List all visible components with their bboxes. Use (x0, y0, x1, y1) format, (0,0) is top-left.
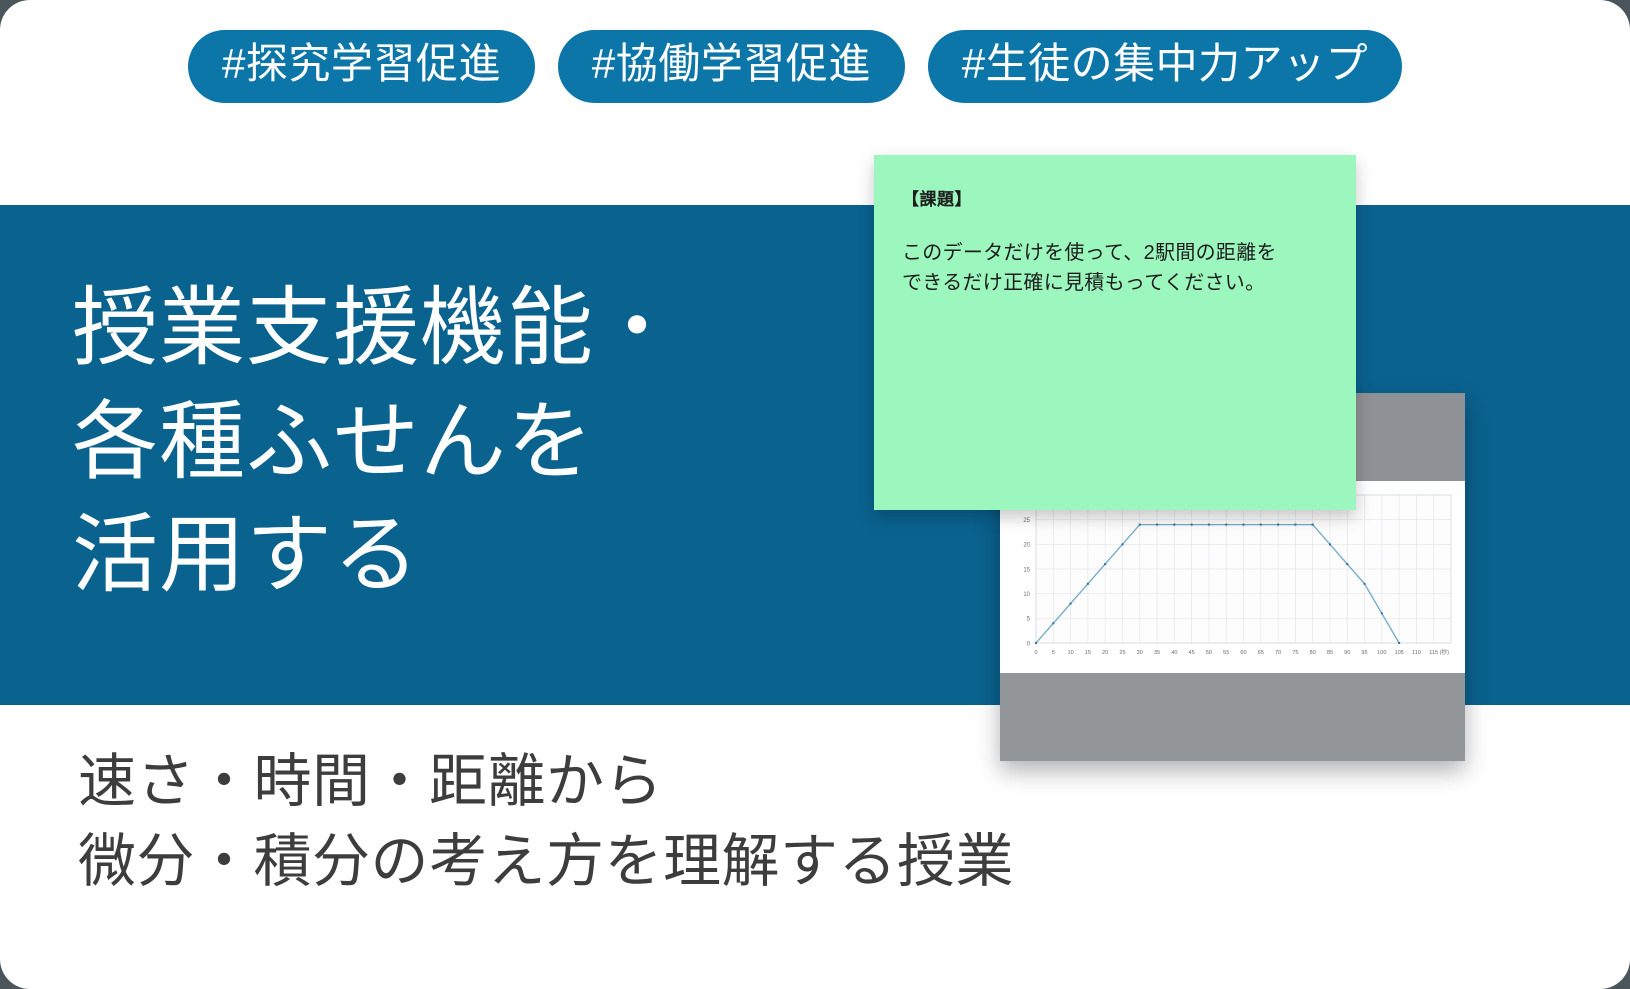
svg-text:25: 25 (1119, 650, 1125, 656)
svg-text:10: 10 (1067, 650, 1073, 656)
svg-text:5: 5 (1027, 617, 1031, 623)
svg-text:60: 60 (1240, 650, 1246, 656)
svg-text:40: 40 (1171, 650, 1177, 656)
svg-text:(秒): (秒) (1440, 648, 1449, 656)
sticky-note-title: 【課題】 (902, 185, 1328, 210)
sticky-note-body: このデータだけを使って、2駅間の距離を できるだけ正確に見積もってください。 (902, 238, 1328, 298)
window-bottom-bar (1000, 673, 1465, 761)
svg-text:10: 10 (1023, 592, 1030, 598)
svg-text:100: 100 (1377, 650, 1386, 656)
page-title: 授業支援機能・ 各種ふせんを 活用する (72, 272, 681, 613)
svg-text:50: 50 (1206, 650, 1212, 656)
svg-text:55: 55 (1223, 650, 1229, 656)
hashtag-pill-2[interactable]: #協働学習促進 (558, 30, 905, 103)
svg-text:95: 95 (1361, 650, 1367, 656)
svg-text:20: 20 (1102, 650, 1108, 656)
svg-text:30: 30 (1137, 650, 1143, 656)
svg-text:15: 15 (1023, 567, 1030, 573)
svg-text:0: 0 (1034, 650, 1037, 656)
svg-text:70: 70 (1275, 650, 1281, 656)
promo-card: #探究学習促進 #協働学習促進 #生徒の集中力アップ 授業支援機能・ 各種ふせん… (0, 0, 1630, 989)
svg-text:115: 115 (1429, 650, 1438, 656)
svg-text:25: 25 (1023, 518, 1030, 524)
svg-text:15: 15 (1085, 650, 1091, 656)
svg-text:5: 5 (1052, 650, 1055, 656)
svg-text:65: 65 (1258, 650, 1264, 656)
svg-text:0: 0 (1027, 641, 1031, 647)
hashtag-pill-1[interactable]: #探究学習促進 (188, 30, 535, 103)
svg-text:85: 85 (1327, 650, 1333, 656)
hashtag-pill-3[interactable]: #生徒の集中力アップ (928, 30, 1402, 103)
svg-text:80: 80 (1310, 650, 1316, 656)
svg-text:35: 35 (1154, 650, 1160, 656)
svg-text:110: 110 (1412, 650, 1421, 656)
svg-text:90: 90 (1344, 650, 1350, 656)
svg-text:45: 45 (1189, 650, 1195, 656)
hashtag-row: #探究学習促進 #協働学習促進 #生徒の集中力アップ (188, 30, 1402, 103)
svg-text:105: 105 (1394, 650, 1403, 656)
svg-text:75: 75 (1292, 650, 1298, 656)
sticky-note-task[interactable]: 【課題】 このデータだけを使って、2駅間の距離を できるだけ正確に見積もってくだ… (874, 155, 1356, 510)
page-subtitle: 速さ・時間・距離から 微分・積分の考え方を理解する授業 (78, 742, 1014, 902)
svg-text:20: 20 (1023, 543, 1030, 549)
